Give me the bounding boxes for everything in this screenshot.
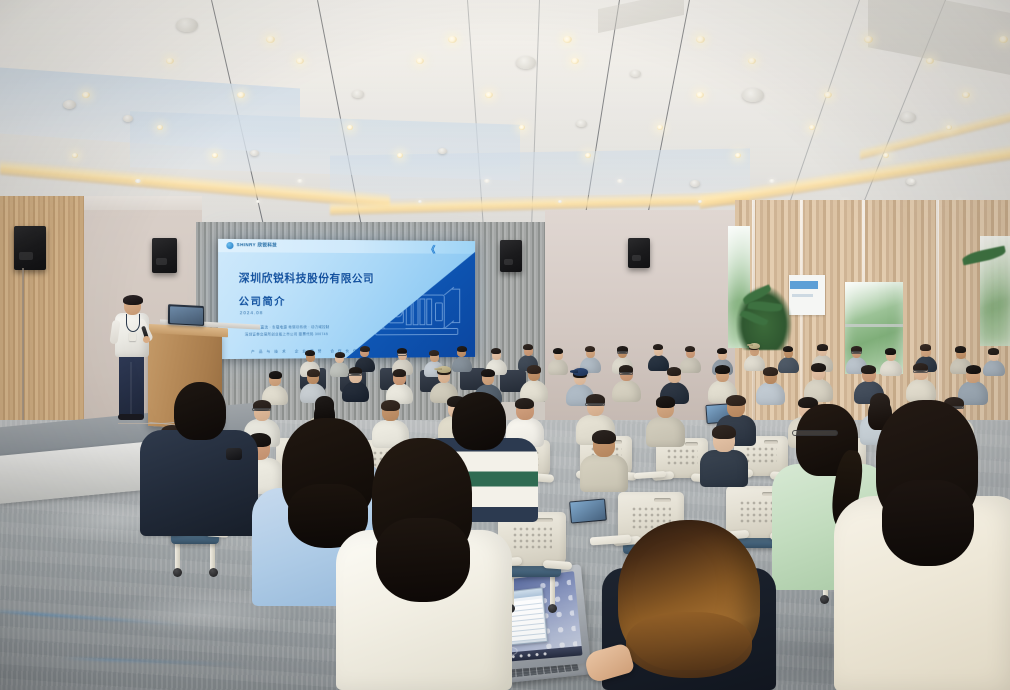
- white-blouse-hair-lower: [376, 518, 470, 602]
- audience-hair: [481, 369, 495, 377]
- audience-hair: [712, 425, 736, 439]
- baseball-cap: [573, 368, 588, 376]
- eyeglasses: [851, 351, 862, 354]
- audience-hair: [592, 430, 616, 444]
- baseball-cap: [749, 343, 760, 349]
- navy-shirt: [140, 430, 258, 536]
- foreground-person-cream: [820, 400, 1010, 690]
- audience-hair: [457, 346, 467, 352]
- audience-hair: [726, 395, 746, 407]
- audience-hair: [715, 365, 730, 374]
- audience-hair: [269, 371, 282, 379]
- chair-armrest[interactable]: [543, 560, 572, 570]
- audience-member: [646, 392, 685, 454]
- audience-torso: [580, 455, 628, 492]
- audience-hair: [667, 367, 681, 375]
- audience-torso: [756, 382, 785, 404]
- audience-hair: [966, 365, 981, 374]
- audience-hair: [360, 346, 370, 352]
- audience-hair: [523, 344, 533, 350]
- eyeglasses: [913, 370, 929, 373]
- audience-hair: [817, 344, 828, 350]
- eyeglasses: [619, 372, 634, 375]
- audience-hair: [920, 344, 931, 350]
- audience-torso: [906, 379, 936, 402]
- audience-hair: [811, 363, 826, 372]
- audience-hair: [305, 350, 315, 356]
- chair-handle: [654, 498, 671, 502]
- foreground-person-navy: [140, 382, 260, 532]
- audience-torso: [612, 380, 641, 402]
- navy-person-hair: [174, 382, 226, 440]
- audience-hair: [553, 348, 563, 354]
- audience-hair: [763, 367, 778, 376]
- audience-member: [342, 364, 369, 407]
- eyeglasses: [397, 353, 408, 356]
- eyeglasses: [348, 373, 362, 376]
- audience-torso: [646, 417, 685, 447]
- audience-torso: [700, 450, 748, 487]
- chair-perforation: [512, 526, 553, 551]
- audience-hair: [393, 369, 407, 377]
- foreground-person-white-blouse: [336, 438, 514, 690]
- audience-hair: [335, 352, 345, 358]
- audience-hair: [656, 396, 675, 407]
- audience-member: [700, 420, 748, 496]
- chair-handle: [685, 442, 699, 445]
- chair-caster: [173, 568, 182, 577]
- audience-hair: [307, 369, 320, 377]
- foreground-hair-lower: [626, 612, 752, 678]
- audience-hair: [861, 365, 876, 374]
- audience-hair: [988, 348, 999, 354]
- chair-leg: [210, 540, 215, 570]
- audience-hair: [955, 346, 966, 352]
- chair-leg: [175, 540, 180, 570]
- audience-member: [580, 424, 628, 501]
- audience-hair: [885, 348, 896, 354]
- conference-room-photo: SHINRY 欣锐科技 《: [0, 0, 1010, 690]
- eyeglasses: [617, 351, 628, 354]
- eyeglasses: [585, 403, 605, 406]
- audience-torso: [342, 381, 369, 402]
- audience-hair: [381, 400, 399, 411]
- audience-member: [612, 362, 641, 408]
- dark-long-hair-lower: [882, 480, 974, 566]
- audience: [0, 0, 1010, 690]
- wristwatch: [226, 448, 242, 460]
- audience-hair: [527, 365, 541, 373]
- chair-leg: [550, 572, 555, 605]
- audience-hair: [429, 350, 439, 356]
- chair-caster: [209, 568, 218, 577]
